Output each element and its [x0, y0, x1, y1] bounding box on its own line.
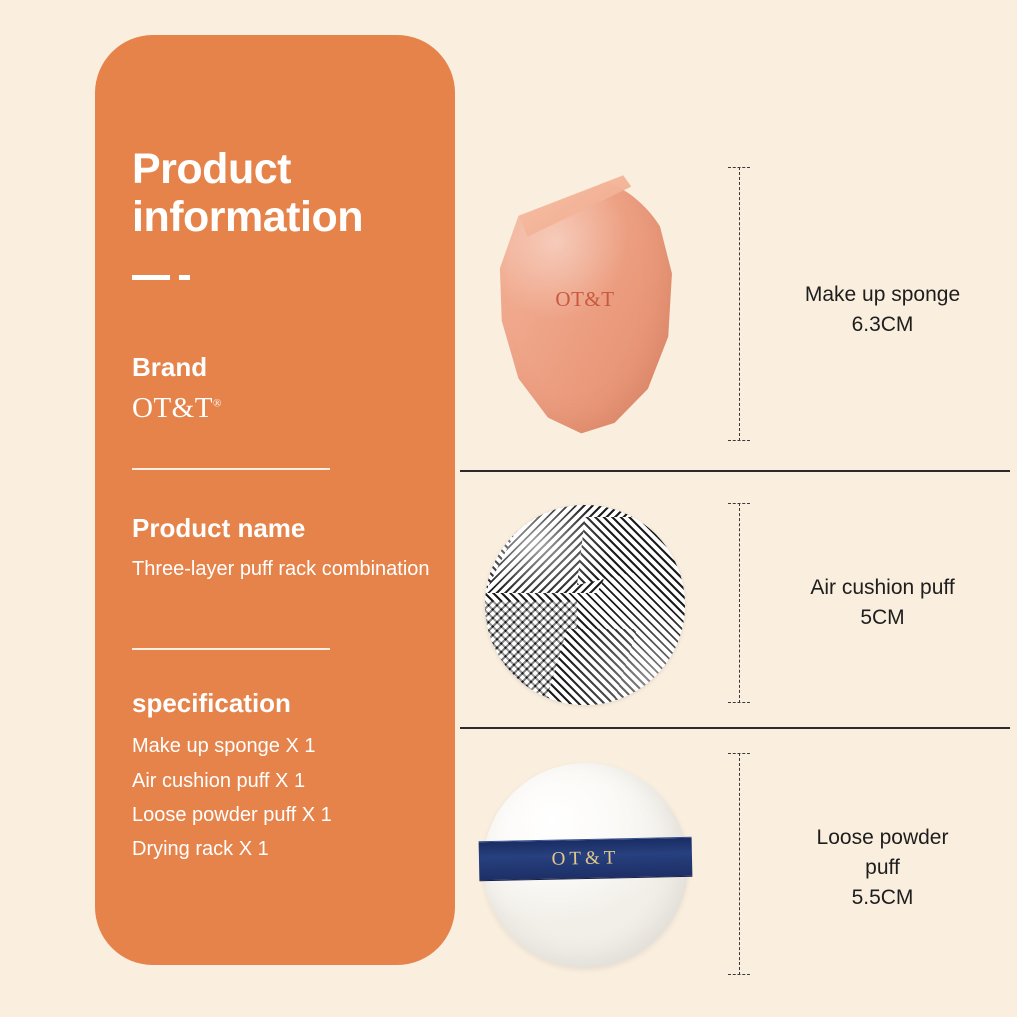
measurement-bracket-powder: [728, 753, 750, 975]
bracket-cap-bottom: [728, 702, 750, 703]
divider-brand: [132, 468, 330, 470]
product-row-loose-powder-puff: OT&T Loose powder puff 5.5CM: [460, 745, 1005, 985]
product-name: Make up sponge: [760, 280, 1005, 310]
bracket-cap-bottom: [728, 440, 750, 441]
accent-dash-long: [132, 275, 170, 280]
ribbon-brand-logo: OT&T: [551, 847, 619, 870]
makeup-sponge-image: OT&T: [460, 155, 710, 455]
measurement-bracket-cushion: [728, 503, 750, 703]
air-cushion-puff-image: [460, 485, 710, 725]
bracket-stem: [739, 753, 740, 975]
product-name: Air cushion puff: [760, 573, 1005, 603]
product-name-line-2: puff: [760, 853, 1005, 883]
divider-product-name: [132, 648, 330, 650]
product-label-air-cushion-puff: Air cushion puff 5CM: [760, 573, 1005, 633]
list-item: Drying rack X 1: [132, 832, 432, 866]
loose-powder-puff-image: OT&T: [460, 745, 710, 985]
accent-dash-short: [179, 275, 190, 280]
list-item: Make up sponge X 1: [132, 729, 432, 763]
product-information-panel: Product information Brand OT&T® Product …: [95, 35, 455, 965]
section-product-name: Product name Three-layer puff rack combi…: [132, 513, 432, 585]
powder-puff-ribbon-band: OT&T: [478, 837, 692, 881]
page-title: Product information: [132, 145, 432, 241]
bracket-stem: [739, 167, 740, 441]
brand-logotype-text: OT&T: [132, 392, 213, 424]
sponge-brand-logo: OT&T: [493, 287, 678, 312]
product-row-air-cushion-puff: Air cushion puff 5CM: [460, 485, 1005, 725]
title-accent-dashes: [132, 275, 190, 280]
list-item: Air cushion puff X 1: [132, 764, 432, 798]
product-size: 6.3CM: [760, 310, 1005, 340]
makeup-sponge-art: OT&T: [493, 174, 678, 436]
specification-list: Make up sponge X 1 Air cushion puff X 1 …: [132, 729, 432, 867]
brand-logotype: OT&T®: [132, 393, 432, 425]
product-label-loose-powder-puff: Loose powder puff 5.5CM: [760, 823, 1005, 912]
bracket-cap-bottom: [728, 974, 750, 975]
section-heading-product-name: Product name: [132, 513, 432, 544]
registered-trademark-icon: ®: [213, 398, 222, 410]
row-divider-1: [460, 470, 1010, 472]
section-brand: Brand OT&T®: [132, 352, 432, 425]
product-row-makeup-sponge: OT&T Make up sponge 6.3CM: [460, 155, 1005, 455]
product-name-value: Three-layer puff rack combination: [132, 554, 432, 585]
row-divider-2: [460, 727, 1010, 729]
loose-powder-puff-art: OT&T: [483, 763, 688, 968]
product-size: 5CM: [760, 603, 1005, 633]
section-heading-specification: specification: [132, 688, 432, 719]
product-label-makeup-sponge: Make up sponge 6.3CM: [760, 280, 1005, 340]
product-name-line-1: Loose powder: [760, 823, 1005, 853]
product-size: 5.5CM: [760, 883, 1005, 913]
section-specification: specification Make up sponge X 1 Air cus…: [132, 688, 432, 867]
section-heading-brand: Brand: [132, 352, 432, 383]
bracket-stem: [739, 503, 740, 703]
measurement-bracket-sponge: [728, 167, 750, 441]
list-item: Loose powder puff X 1: [132, 798, 432, 832]
air-cushion-puff-art: [485, 505, 685, 705]
